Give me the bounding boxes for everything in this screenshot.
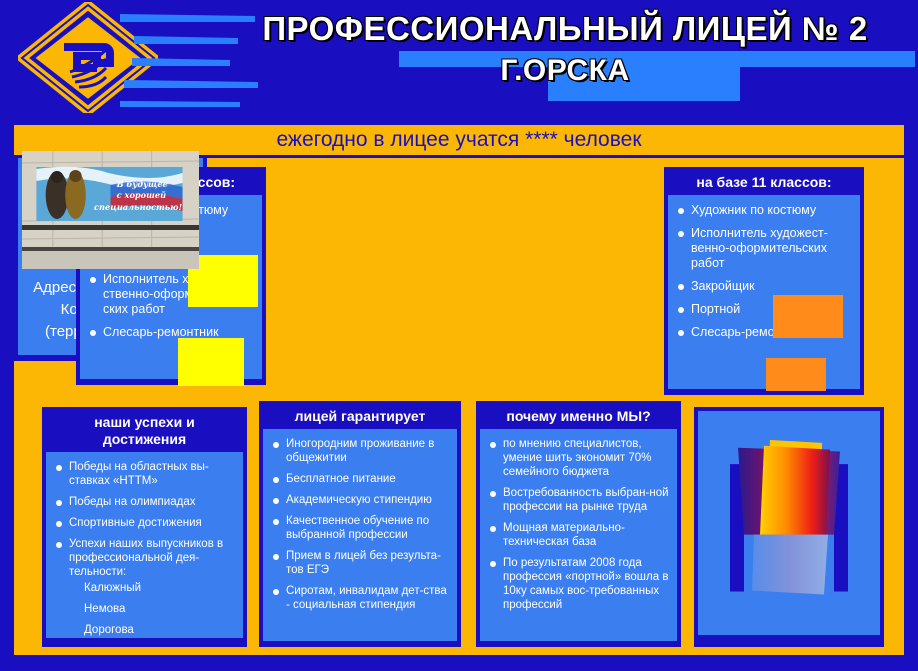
list-item: Востребованность выбран-ной профессии на…: [488, 486, 669, 514]
svg-text:В будущее: В будущее: [116, 179, 168, 189]
svg-text:с хорошей: с хорошей: [117, 190, 167, 200]
graduate-name: Калюжный: [69, 581, 235, 595]
poster-header: ПРОФЕССИОНАЛЬНЫЙ ЛИЦЕЙ № 2 Г.ОРСКА: [0, 0, 918, 113]
yellow-swatch-lower: [178, 338, 244, 386]
lyceum-hall-photo: В будущее с хорошей специальностью!: [22, 151, 199, 269]
list-item-text: Успехи наших выпускников в профессиональ…: [69, 538, 223, 578]
list-item: Художник по костюму: [676, 203, 852, 218]
list-item: Прием в лицей без результа-тов ЕГЭ: [271, 549, 449, 577]
list-item: Успехи наших выпускников в профессиональ…: [54, 537, 235, 637]
graduate-name: Дорогова: [69, 623, 235, 637]
panel-base-11-classes: на базе 11 классов: Художник по костюму …: [664, 167, 864, 395]
panel-lyceum-guarantees: лицей гарантирует Иногородним проживание…: [259, 401, 461, 647]
panel-guarantees-list: Иногородним проживание в общежитии Беспл…: [271, 437, 449, 612]
panel-guarantees-title: лицей гарантирует: [263, 405, 457, 429]
list-item: По результатам 2008 года профессия «порт…: [488, 556, 669, 612]
orange-swatch-lower: [766, 358, 826, 391]
panel-why-us-list: по мнению специалистов, умение шить экон…: [488, 437, 669, 612]
graduate-name: Немова: [69, 602, 235, 616]
list-item: Иногородним проживание в общежитии: [271, 437, 449, 465]
panel-why-us: почему именно МЫ? по мнению специалистов…: [476, 401, 681, 647]
list-item: Мощная материально-техническая база: [488, 521, 669, 549]
panel-our-achievements: наши успехи и достижения Победы на облас…: [42, 407, 247, 647]
page-title-line-2: Г.ОРСКА: [215, 54, 915, 88]
list-item: Исполнитель художест-венно-оформительски…: [676, 226, 852, 271]
list-item: Закройщик: [676, 279, 852, 294]
list-item: по мнению специалистов, умение шить экон…: [488, 437, 669, 479]
list-item: Победы на областных вы-ставках «НТТМ»: [54, 460, 235, 488]
panel-why-us-body: по мнению специалистов, умение шить экон…: [480, 429, 677, 641]
graduate-names-list: Калюжный Немова Дорогова: [69, 581, 235, 637]
list-item: Бесплатное питание: [271, 472, 449, 486]
panel-achievements-title-line-2: достижения: [48, 431, 241, 448]
panel-achievements-title-line-1: наши успехи и: [48, 414, 241, 431]
list-item: Спортивные достижения: [54, 516, 235, 530]
panel-base-11-title: на базе 11 классов:: [668, 171, 860, 195]
poster-canvas: ежегодно в лицее учатся **** человек на …: [14, 125, 904, 655]
panel-decorative-artwork: [694, 407, 884, 647]
decorative-artwork-canvas: [698, 411, 880, 635]
poster-frame: ежегодно в лицее учатся **** человек на …: [9, 120, 909, 660]
panel-base-11-body: Художник по костюму Исполнитель художест…: [668, 195, 860, 389]
list-item: Качественное обучение по выбранной профе…: [271, 514, 449, 542]
page-title-line-1: ПРОФЕССИОНАЛЬНЫЙ ЛИЦЕЙ № 2: [215, 10, 915, 48]
panel-achievements-list: Победы на областных вы-ставках «НТТМ» По…: [54, 460, 235, 637]
panel-achievements-title: наши успехи и достижения: [46, 411, 243, 452]
list-item: Победы на олимпиадах: [54, 495, 235, 509]
list-item: Академическую стипендию: [271, 493, 449, 507]
panel-guarantees-body: Иногородним проживание в общежитии Беспл…: [263, 429, 457, 641]
svg-text:специальностью!: специальностью!: [94, 202, 182, 212]
panel-why-us-title: почему именно МЫ?: [480, 405, 677, 429]
orange-swatch-upper: [773, 295, 843, 338]
attendance-banner-text: ежегодно в лицее учатся **** человек: [276, 128, 641, 152]
list-item: Сиротам, инвалидам дет-ства - социальная…: [271, 584, 449, 612]
poster-root: ПРОФЕССИОНАЛЬНЫЙ ЛИЦЕЙ № 2 Г.ОРСКА ежего…: [0, 0, 918, 671]
panel-achievements-body: Победы на областных вы-ставках «НТТМ» По…: [46, 452, 243, 638]
poster-title-block: ПРОФЕССИОНАЛЬНЫЙ ЛИЦЕЙ № 2 Г.ОРСКА: [215, 6, 915, 106]
